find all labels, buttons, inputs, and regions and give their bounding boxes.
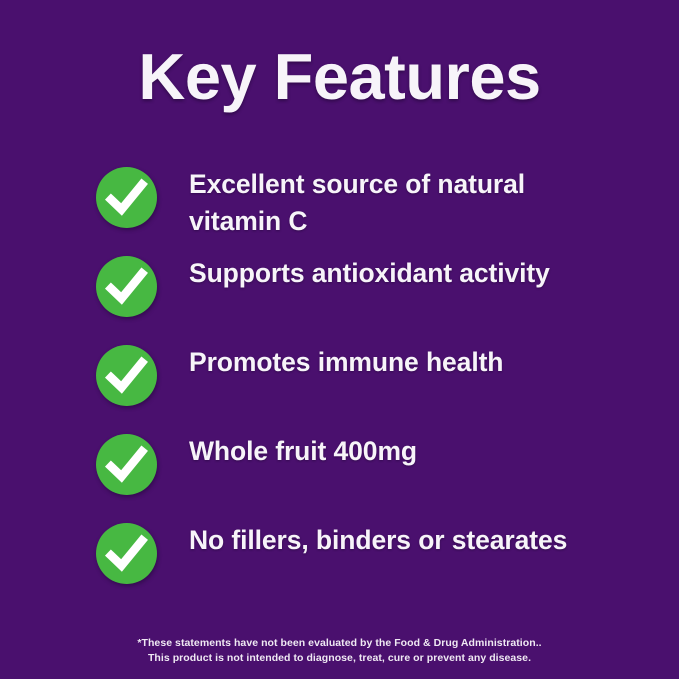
check-circle-icon [96, 523, 157, 584]
check-circle-icon [96, 434, 157, 495]
feature-label: Whole fruit 400mg [157, 430, 636, 470]
list-item: Whole fruit 400mg [96, 430, 636, 519]
list-item: No fillers, binders or stearates [96, 519, 636, 608]
check-circle-icon [96, 167, 157, 228]
list-item: Excellent source of natural vitamin C [96, 163, 636, 252]
feature-label: Excellent source of natural vitamin C [157, 163, 559, 240]
disclaimer-line-1: *These statements have not been evaluate… [0, 636, 679, 651]
disclaimer: *These statements have not been evaluate… [0, 636, 679, 665]
feature-label: No fillers, binders or stearates [157, 519, 636, 559]
list-item: Supports antioxidant activity [96, 252, 636, 341]
feature-label: Supports antioxidant activity [157, 252, 636, 292]
disclaimer-line-2: This product is not intended to diagnose… [0, 651, 679, 666]
feature-list: Excellent source of natural vitamin C Su… [96, 163, 636, 608]
feature-label: Promotes immune health [157, 341, 636, 381]
list-item: Promotes immune health [96, 341, 636, 430]
key-features-poster: Key Features Excellent source of natural… [0, 0, 679, 679]
page-title: Key Features [0, 44, 679, 109]
check-circle-icon [96, 256, 157, 317]
check-circle-icon [96, 345, 157, 406]
